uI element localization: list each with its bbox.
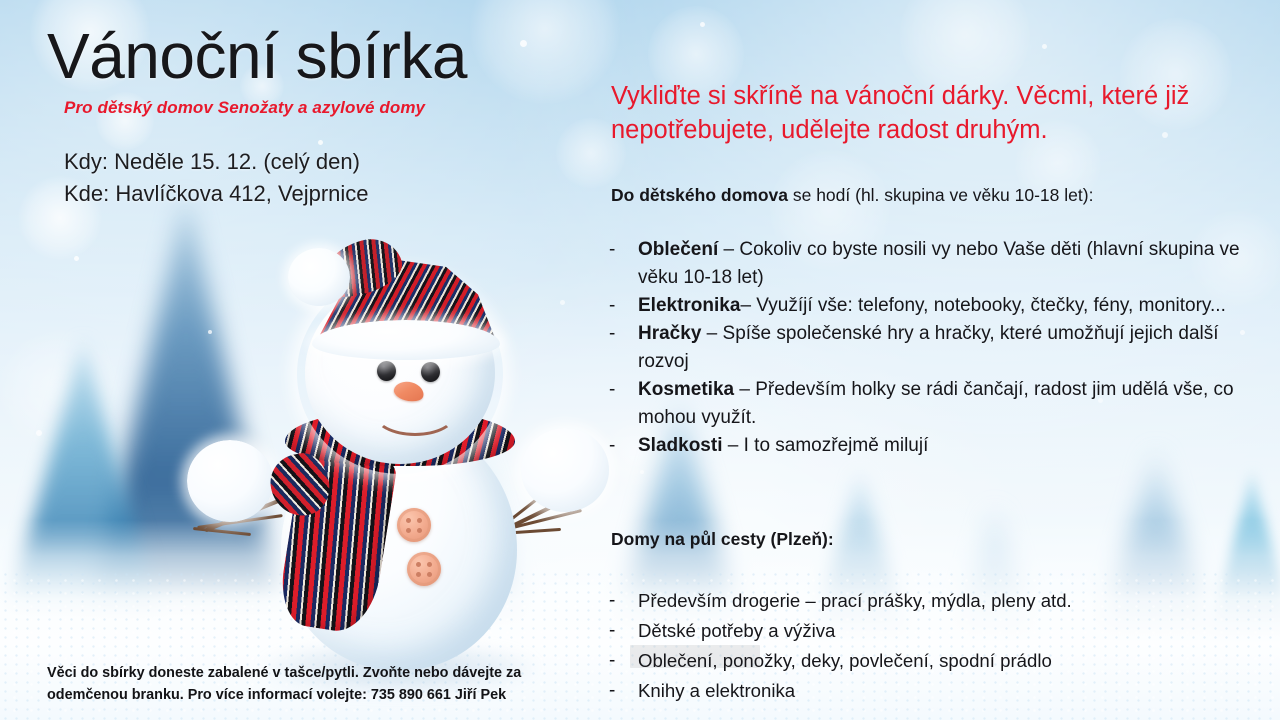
list-item: - Hračky – Spíše společenské hry a hračk… [605,320,1265,376]
event-when: Kdy: Neděle 15. 12. (celý den) [64,146,369,178]
event-where: Kde: Havlíčkova 412, Vejprnice [64,178,369,210]
list-item-desc: – I to samozřejmě milují [722,435,928,456]
list-item-term: Hračky [638,323,701,344]
list-item-text: Knihy a elektronika [638,680,795,701]
poster-content: Vánoční sbírka Pro dětský domov Senožaty… [0,0,1280,720]
intro-bold-label: Do dětského domova [611,185,788,205]
bullet-marker: - [609,320,615,348]
list-item-desc: – Spíše společenské hry a hračky, které … [638,323,1219,372]
footer-note: Věci do sbírky doneste zabalené v tašce/… [47,663,587,706]
list-item-text: Především drogerie – prací prášky, mýdla… [638,590,1072,611]
poster-root: Vánoční sbírka Pro dětský domov Senožaty… [0,0,1280,720]
page-title: Vánoční sbírka [47,24,467,89]
page-subtitle: Pro dětský domov Senožaty a azylové domy [64,98,425,118]
bullet-marker: - [609,616,615,647]
donation-list-children-home: - Oblečení – Cokoliv co byste nosili vy … [605,236,1265,460]
list-item-text: Dětské potřeby a výživa [638,620,835,641]
bullet-marker: - [609,676,615,707]
intro-line: Do dětského domova se hodí (hl. skupina … [611,183,1251,208]
intro-rest-text: se hodí (hl. skupina ve věku 10-18 let): [788,185,1093,205]
list-item-term: Elektronika [638,295,740,316]
list-item-term: Sladkosti [638,435,722,456]
bullet-marker: - [609,432,615,460]
list-item: - Sladkosti – I to samozřejmě milují [605,432,1265,460]
call-to-action-headline: Vykliďte si skříně na vánoční dárky. Věc… [611,80,1251,147]
list-item-term: Kosmetika [638,379,734,400]
list-item: - Elektronika– Využíjí vše: telefony, no… [605,292,1265,320]
list-item: - Knihy a elektronika [605,676,1265,706]
donation-list-halfway-houses: - Především drogerie – prací prášky, mýd… [605,586,1265,706]
list-item: - Oblečení, ponožky, deky, povlečení, sp… [605,646,1265,676]
list-item-desc: – Cokoliv co byste nosili vy nebo Vaše d… [638,239,1240,288]
list-item-text: Oblečení, ponožky, deky, povlečení, spod… [638,650,1052,671]
list-item: - Dětské potřeby a výživa [605,616,1265,646]
list-item: - Především drogerie – prací prášky, mýd… [605,586,1265,616]
list-item-desc: – Využíjí vše: telefony, notebooky, čteč… [740,295,1225,316]
bullet-marker: - [609,236,615,264]
list-item: - Kosmetika – Především holky se rádi ča… [605,376,1265,432]
event-details: Kdy: Neděle 15. 12. (celý den) Kde: Havl… [64,146,369,210]
bullet-marker: - [609,292,615,320]
section-heading-halfway-houses: Domy na půl cesty (Plzeň): [611,529,834,550]
bullet-marker: - [609,376,615,404]
bullet-marker: - [609,646,615,677]
list-item-term: Oblečení [638,239,718,260]
bullet-marker: - [609,586,615,617]
list-item: - Oblečení – Cokoliv co byste nosili vy … [605,236,1265,292]
